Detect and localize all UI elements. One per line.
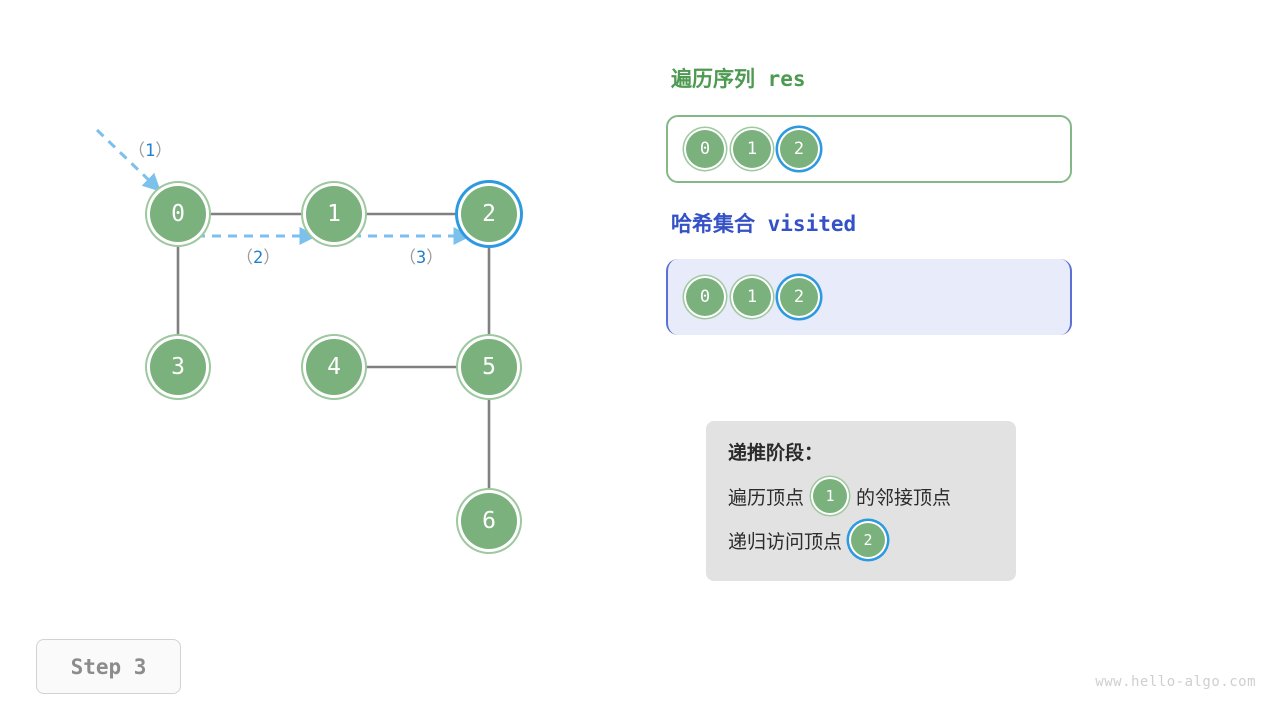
phase-line-2-node: 2 [851,523,885,557]
graph-node-0[interactable]: 0 [150,186,206,242]
graph-node-4[interactable]: 4 [306,339,362,395]
paren-open: （ [128,141,145,161]
res-chip-0[interactable]: 0 [686,130,724,168]
graph-node-1-label: 1 [327,203,341,226]
graph-node-2[interactable]: 2 [461,186,517,242]
traversal-order-label-2: （2） [236,243,280,268]
phase-line-2: 递归访问顶点 2 [728,518,994,562]
watermark: www.hello-algo.com [1095,674,1256,690]
graph-node-6[interactable]: 6 [461,493,517,549]
visited-chip-2-label: 2 [794,289,804,306]
order-number: 3 [416,248,426,268]
step-badge: Step 3 [36,639,181,694]
phase-line-2-prefix: 递归访问顶点 [728,527,842,554]
visited-chip-1[interactable]: 1 [733,278,771,316]
state-panel: 遍历序列 res 0 1 2 哈希集合 visited 0 1 2 递推阶段： … [640,0,1280,720]
visited-chip-0[interactable]: 0 [686,278,724,316]
res-chip-2[interactable]: 2 [780,130,818,168]
order-number: 1 [145,141,155,161]
graph-node-6-label: 6 [482,510,496,533]
graph-node-0-label: 0 [171,203,185,226]
phase-info-card: 递推阶段： 遍历顶点 1 的邻接顶点 递归访问顶点 2 [706,421,1016,581]
phase-line-1-node-label: 1 [826,489,835,504]
paren-close: ） [426,248,443,268]
visited-title: 哈希集合 visited [671,208,856,238]
phase-line-1-node: 1 [813,479,847,513]
res-chip-0-label: 0 [700,141,710,158]
paren-open: （ [236,248,253,268]
visited-chip-1-label: 1 [747,289,757,306]
phase-line-2-node-label: 2 [864,533,873,548]
graph-node-1[interactable]: 1 [306,186,362,242]
graph-node-3[interactable]: 3 [150,339,206,395]
graph-node-2-label: 2 [482,203,496,226]
traversal-order-label-1: （1） [128,136,172,161]
order-number: 2 [253,248,263,268]
graph-node-3-label: 3 [171,356,185,379]
phase-heading: 递推阶段： [728,438,994,465]
paren-close: ） [263,248,280,268]
res-container: 0 1 2 [666,115,1072,183]
res-chip-1[interactable]: 1 [733,130,771,168]
res-chip-1-label: 1 [747,141,757,158]
res-title: 遍历序列 res [671,63,806,93]
graph-node-4-label: 4 [327,356,341,379]
phase-line-1-prefix: 遍历顶点 [728,483,804,510]
visited-chip-2[interactable]: 2 [780,278,818,316]
res-chip-2-label: 2 [794,141,804,158]
graph-panel: 0 1 2 3 4 5 6 （1） （2） （3） [0,0,640,720]
graph-node-5-label: 5 [482,356,496,379]
phase-line-1: 遍历顶点 1 的邻接顶点 [728,474,994,518]
paren-open: （ [399,248,416,268]
traversal-order-label-3: （3） [399,243,443,268]
visited-chip-0-label: 0 [700,289,710,306]
paren-close: ） [155,141,172,161]
phase-line-1-suffix: 的邻接顶点 [856,483,951,510]
visited-container: 0 1 2 [666,259,1072,335]
graph-node-5[interactable]: 5 [461,339,517,395]
